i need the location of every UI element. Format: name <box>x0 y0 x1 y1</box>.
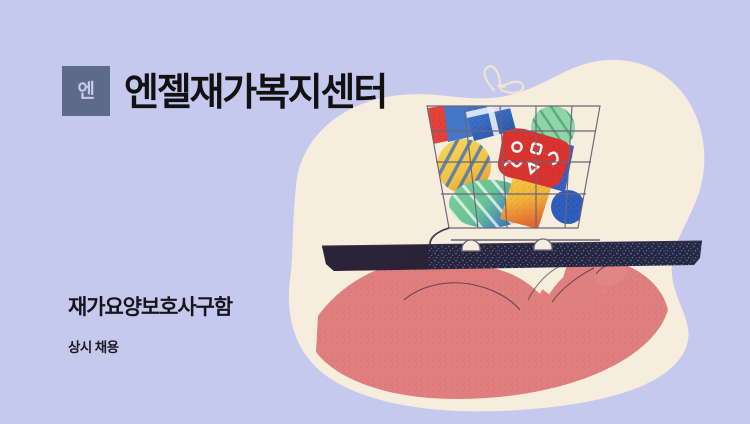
text-layer: 엔 엔젤재가복지센터 재가요양보호사구함 상시 채용 <box>0 0 750 424</box>
company-logo-badge: 엔 <box>62 66 110 116</box>
job-headline: 재가요양보호사구함 <box>68 297 232 318</box>
job-subline: 상시 채용 <box>68 341 118 355</box>
brand-row: 엔 엔젤재가복지센터 <box>62 66 386 116</box>
company-logo-badge-text: 엔 <box>78 82 95 101</box>
job-posting-banner: 엔 엔젤재가복지센터 재가요양보호사구함 상시 채용 <box>0 0 750 424</box>
company-name: 엔젤재가복지센터 <box>124 74 386 112</box>
